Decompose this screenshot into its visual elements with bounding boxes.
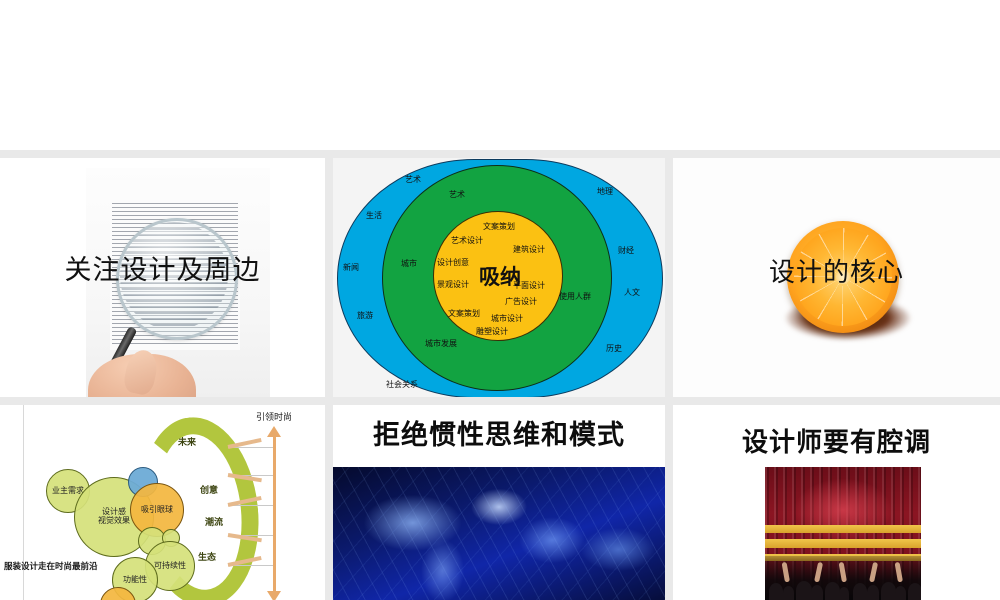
axis-arrow-up-icon	[267, 426, 281, 437]
panel-bottom-center-caption: 拒绝惯性思维和模式	[333, 413, 665, 452]
panel-top-center[interactable]: 艺术地理生活财经新闻人文旅游历史社会关系艺术城市使用人群城市发展文案策划艺术设计…	[333, 158, 665, 397]
curtain-band-1	[765, 525, 921, 533]
ring-inner-label: 雕塑设计	[476, 326, 508, 337]
ring-outer-label: 地理	[597, 186, 613, 197]
world-network-image	[333, 467, 665, 600]
audience-head	[825, 582, 840, 600]
panel-bottom-right[interactable]: 设计师要有腔调	[673, 405, 1000, 600]
ring-outer-label: 新闻	[343, 262, 359, 273]
ring-inner-label: 城市设计	[491, 313, 523, 324]
panel-top-right-caption: 设计的核心	[673, 252, 1000, 289]
theater-image	[765, 467, 921, 600]
fashion-axis	[273, 433, 276, 595]
ring-inner-label: 设计创意	[437, 257, 469, 268]
theater-slide: 设计师要有腔调	[673, 405, 1000, 600]
audience-head	[769, 583, 783, 600]
ring-outer-label: 社会关系	[386, 379, 418, 390]
divider-row-1	[0, 150, 1000, 158]
audience-head	[839, 587, 849, 600]
ring-inner-label: 景观设计	[437, 279, 469, 290]
raised-hand	[869, 562, 878, 583]
divider-row-2	[0, 397, 1000, 405]
panel-bottom-left-caption: 服装设计走在时尚最前沿	[4, 560, 98, 572]
divider-col-1-bottom	[325, 405, 333, 600]
audience-head	[796, 581, 812, 600]
axis-label: 引领时尚	[256, 410, 292, 423]
audience-head	[811, 585, 823, 600]
raised-hand	[839, 562, 847, 583]
audience-head	[783, 586, 794, 600]
top-blank-area	[0, 0, 1000, 150]
ring-inner-label: 建筑设计	[513, 244, 545, 255]
slide-grid-page: 关注设计及周边 艺术地理生活财经新闻人文旅游历史社会关系艺术城市使用人群城市发展…	[0, 0, 1000, 600]
network-lines	[333, 467, 665, 600]
arc-label: 潮流	[205, 515, 223, 528]
ring-middle-label: 城市发展	[425, 338, 457, 349]
curtain-band-2	[765, 539, 921, 548]
ring-outer-label: 历史	[606, 343, 622, 354]
raised-hand	[895, 562, 903, 583]
ring-outer-label: 生活	[366, 210, 382, 221]
divider-col-2-top	[665, 158, 673, 397]
ring-middle-label: 艺术	[449, 189, 465, 200]
panel-bottom-center[interactable]: 拒绝惯性思维和模式	[333, 405, 665, 600]
panel-bottom-right-caption: 设计师要有腔调	[673, 422, 1000, 459]
audience-crowd	[765, 556, 921, 600]
divider-col-1-top	[325, 158, 333, 397]
audience-head	[895, 586, 906, 600]
ring-middle-label: 城市	[401, 258, 417, 269]
panel-top-right[interactable]: 设计的核心	[673, 158, 1000, 397]
audience-head	[908, 583, 921, 600]
arc-label: 未来	[178, 435, 196, 448]
audience-head	[867, 585, 879, 600]
axis-arrow-down-icon	[267, 591, 281, 600]
arc-label: 创意	[200, 483, 218, 496]
arc-label: 生态	[198, 550, 216, 563]
ring-outer-label: 财经	[618, 245, 634, 256]
ring-inner-label: 文案策划	[483, 221, 515, 232]
divider-col-2-bottom	[665, 405, 673, 600]
ring-middle-label: 使用人群	[559, 291, 591, 302]
ring-outer-label: 人文	[624, 287, 640, 298]
ring-inner-label: 艺术设计	[451, 235, 483, 246]
ring-outer-label: 旅游	[357, 310, 373, 321]
raised-hand	[814, 562, 823, 583]
panel-top-left-caption: 关注设计及周边	[0, 248, 325, 287]
panel-top-left[interactable]: 关注设计及周边	[0, 158, 325, 397]
ring-outer-label: 艺术	[405, 174, 421, 185]
raised-hand	[782, 562, 790, 583]
fashion-bubble-diagram: 业主需求设计感视觉效果吸引眼球可持续性功能性 未来创意潮流生态 引领时尚 服装设…	[0, 405, 325, 600]
world-network-slide: 拒绝惯性思维和模式	[333, 405, 665, 600]
ring-inner-label: 文案策划	[448, 308, 480, 319]
ring-core-label: 吸纳	[479, 261, 521, 291]
audience-head	[853, 583, 867, 600]
panel-bottom-left[interactable]: 业主需求设计感视觉效果吸引眼球可持续性功能性 未来创意潮流生态 引领时尚 服装设…	[0, 405, 325, 600]
ring-inner-label: 广告设计	[505, 296, 537, 307]
audience-head	[881, 582, 896, 600]
concentric-diagram: 艺术地理生活财经新闻人文旅游历史社会关系艺术城市使用人群城市发展文案策划艺术设计…	[333, 158, 665, 397]
